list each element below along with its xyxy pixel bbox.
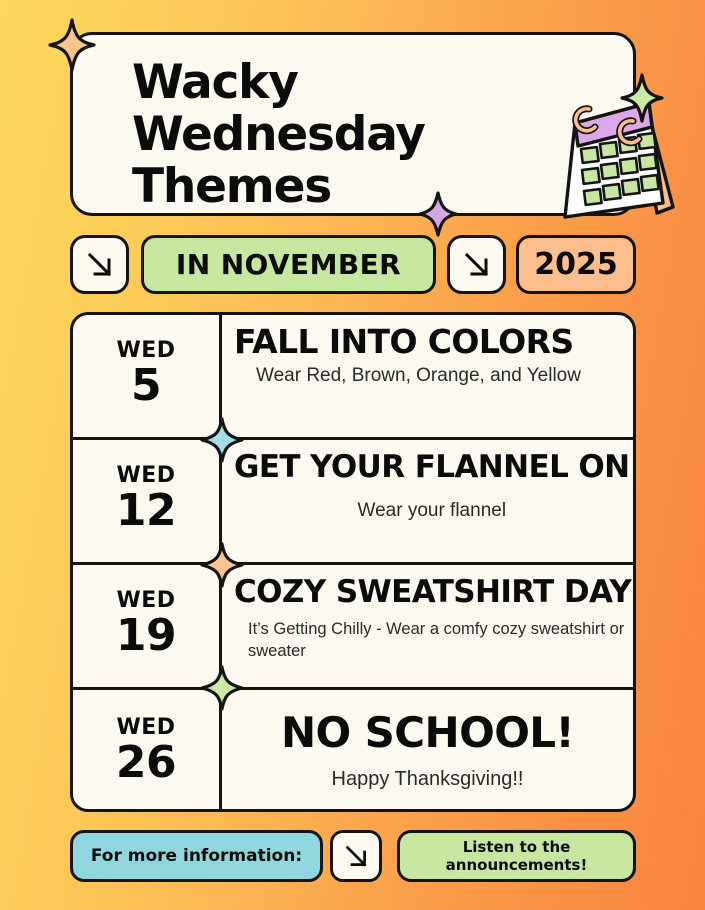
day-number-label: 5 bbox=[131, 363, 161, 409]
table-row: WED 26 NO SCHOOL! Happy Thanksgiving!! bbox=[73, 690, 633, 812]
day-of-week-label: WED bbox=[116, 716, 175, 740]
page-title-line-1: Wacky bbox=[132, 57, 425, 109]
arrow-down-right-icon-button-3[interactable] bbox=[330, 830, 382, 882]
theme-cell: NO SCHOOL! Happy Thanksgiving!! bbox=[222, 690, 633, 812]
poster-canvas: Wacky Wednesday Themes bbox=[0, 0, 705, 910]
more-information-label: For more information: bbox=[91, 846, 302, 866]
theme-title: FALL INTO COLORS bbox=[234, 324, 621, 360]
day-number-label: 26 bbox=[116, 740, 176, 786]
theme-subtitle: It’s Getting Chilly - Wear a comfy cozy … bbox=[234, 618, 631, 662]
theme-title: NO SCHOOL! bbox=[281, 710, 574, 756]
day-number-label: 19 bbox=[116, 613, 176, 659]
date-cell: WED 12 bbox=[73, 440, 222, 562]
schedule-table: WED 5 FALL INTO COLORS Wear Red, Brown, … bbox=[70, 312, 636, 812]
announcements-label-line-1: Listen to the bbox=[463, 838, 571, 856]
title-card: Wacky Wednesday Themes bbox=[70, 32, 636, 216]
theme-cell: FALL INTO COLORS Wear Red, Brown, Orange… bbox=[222, 315, 633, 437]
date-cell: WED 19 bbox=[73, 565, 222, 687]
date-cell: WED 5 bbox=[73, 315, 222, 437]
year-label: 2025 bbox=[534, 247, 618, 282]
theme-subtitle: Wear your flannel bbox=[234, 497, 630, 524]
day-number-label: 12 bbox=[116, 488, 176, 534]
theme-subtitle: Happy Thanksgiving!! bbox=[332, 766, 524, 793]
month-label: IN NOVEMBER bbox=[176, 248, 401, 281]
arrow-down-right-icon-button-1[interactable] bbox=[70, 235, 129, 294]
arrow-down-right-icon bbox=[462, 250, 492, 280]
theme-subtitle: Wear Red, Brown, Orange, and Yellow bbox=[234, 362, 621, 389]
announcements-pill: Listen to the announcements! bbox=[397, 830, 636, 882]
theme-title: COZY SWEATSHIRT DAY bbox=[234, 574, 631, 610]
arrow-down-right-icon bbox=[343, 843, 370, 870]
page-title-line-3: Themes bbox=[132, 161, 425, 213]
table-row: WED 5 FALL INTO COLORS Wear Red, Brown, … bbox=[73, 315, 633, 440]
page-title-line-2: Wednesday bbox=[132, 109, 425, 161]
arrow-down-right-icon bbox=[85, 250, 115, 280]
page-title: Wacky Wednesday Themes bbox=[132, 57, 425, 213]
table-row: WED 12 GET YOUR FLANNEL ON Wear your fla… bbox=[73, 440, 633, 565]
theme-title: GET YOUR FLANNEL ON bbox=[234, 449, 630, 485]
theme-cell: COZY SWEATSHIRT DAY It’s Getting Chilly … bbox=[222, 565, 636, 687]
theme-cell: GET YOUR FLANNEL ON Wear your flannel bbox=[222, 440, 636, 562]
more-information-pill: For more information: bbox=[70, 830, 323, 882]
date-cell: WED 26 bbox=[73, 690, 222, 812]
announcements-label-line-2: announcements! bbox=[446, 856, 588, 874]
year-pill: 2025 bbox=[516, 235, 636, 294]
desk-calendar-icon bbox=[545, 91, 685, 226]
month-pill: IN NOVEMBER bbox=[141, 235, 436, 294]
table-row: WED 19 COZY SWEATSHIRT DAY It’s Getting … bbox=[73, 565, 633, 690]
arrow-down-right-icon-button-2[interactable] bbox=[447, 235, 506, 294]
